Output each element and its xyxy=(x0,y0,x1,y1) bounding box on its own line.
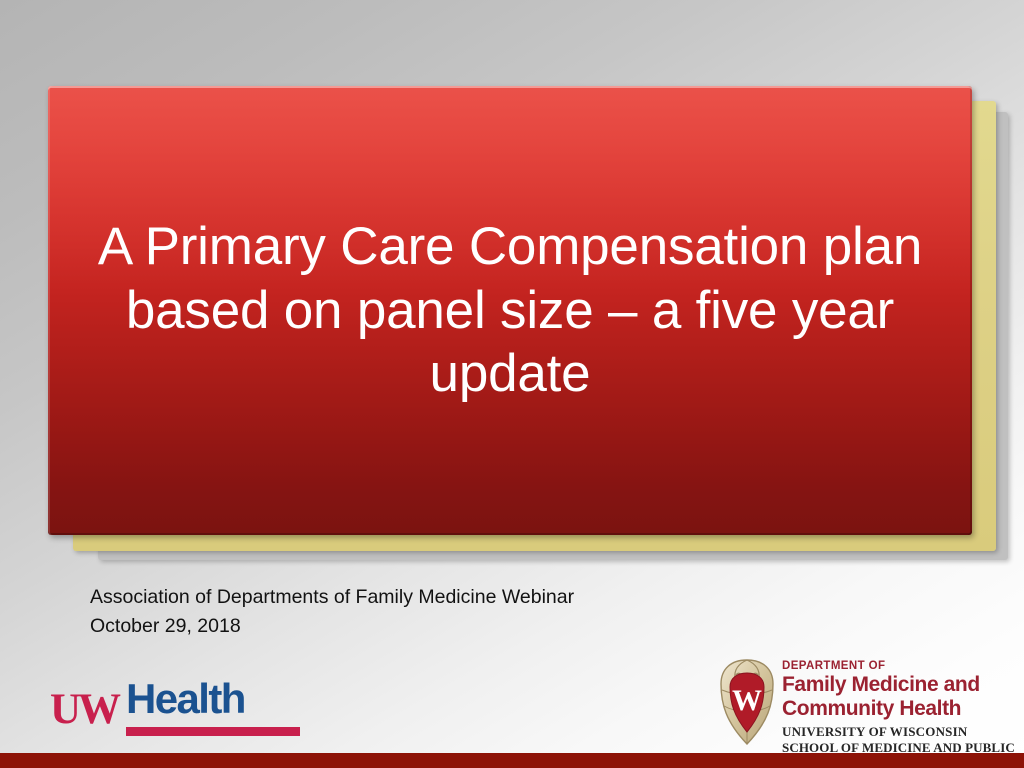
uw-health-logo-underline xyxy=(126,727,300,736)
smph-name-line-1: Family Medicine and xyxy=(782,674,1018,697)
page-title: A Primary Care Compensation plan based o… xyxy=(85,215,935,406)
uw-crest-shield-icon: W xyxy=(718,656,776,748)
subtitle-event: Association of Departments of Family Med… xyxy=(90,583,574,612)
smph-institution: UNIVERSITY OF WISCONSIN xyxy=(782,724,1018,740)
bottom-accent-bar xyxy=(0,753,1024,768)
title-plate: A Primary Care Compensation plan based o… xyxy=(48,86,972,535)
title-slide: A Primary Care Compensation plan based o… xyxy=(0,0,1024,768)
uw-health-logo-uw-text: UW xyxy=(50,688,118,731)
uw-smph-department-logo: W DEPARTMENT OF Family Medicine and Comm… xyxy=(718,654,1018,756)
uw-health-logo-health-text: Health xyxy=(126,678,245,720)
uw-smph-wordmark: DEPARTMENT OF Family Medicine and Commun… xyxy=(782,654,1018,768)
uw-health-logo: UW Health xyxy=(50,676,315,740)
smph-department-label: DEPARTMENT OF xyxy=(782,659,1018,673)
subtitle-block: Association of Departments of Family Med… xyxy=(90,583,574,640)
crest-letter: W xyxy=(732,684,762,717)
subtitle-date: October 29, 2018 xyxy=(90,612,574,641)
smph-name-line-2: Community Health xyxy=(782,698,1018,721)
